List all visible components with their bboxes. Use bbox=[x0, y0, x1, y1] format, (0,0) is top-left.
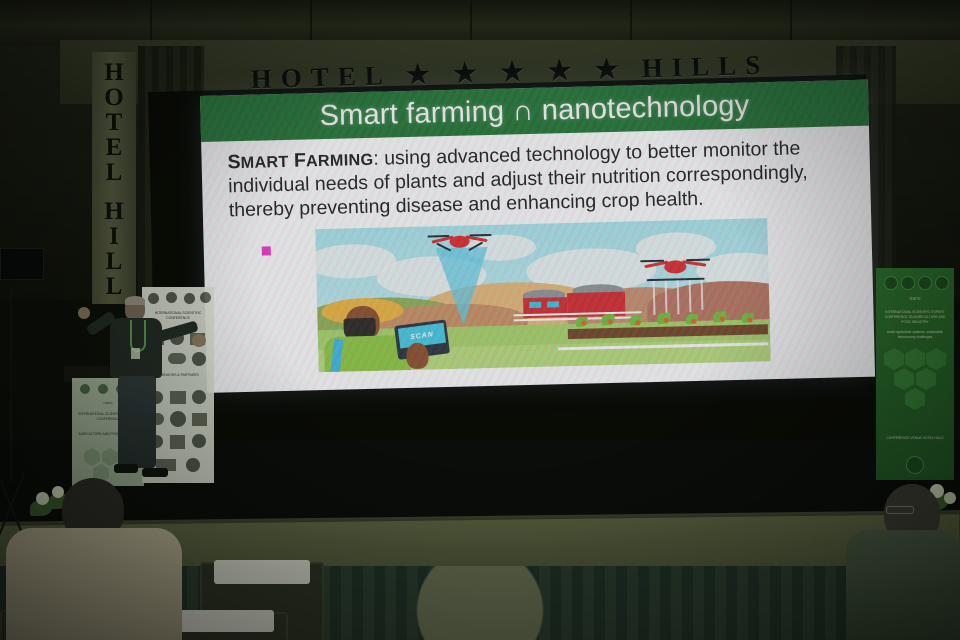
spraying-drone bbox=[315, 218, 767, 229]
slide-title: Smart farming ∩ nanotechnology bbox=[319, 89, 750, 132]
tablet-scan-label: SCAN bbox=[410, 331, 435, 341]
farmer-with-tablet: SCAN bbox=[315, 218, 767, 229]
smart-farming-illustration: SCAN bbox=[315, 218, 770, 372]
chair-cover bbox=[180, 610, 274, 632]
slide-body: SMART FARMING: using advanced technology… bbox=[201, 126, 871, 224]
slide-paragraph: SMART FARMING: using advanced technology… bbox=[227, 136, 849, 222]
conference-banner: nano INTERNATIONAL SCIENTIFIC EXPERT CON… bbox=[876, 268, 954, 480]
stage-monitor bbox=[0, 248, 44, 280]
vertical-hotel-sign: HOTELHILL bbox=[92, 52, 136, 304]
conference-photo-scene: HOTEL ★ ★ ★ ★ ★ HILLS HOTELHILL Smart fa… bbox=[0, 0, 960, 640]
smart-farming-term: SMART FARMING bbox=[227, 148, 373, 174]
crop-rows bbox=[315, 218, 767, 229]
glasses-icon bbox=[886, 506, 914, 514]
presentation-slide: Smart farming ∩ nanotechnology SMART FAR… bbox=[200, 80, 875, 393]
scan-beam bbox=[436, 247, 490, 326]
barn bbox=[315, 218, 767, 229]
slide-bullet-marker bbox=[262, 246, 271, 255]
chair-cover bbox=[214, 560, 310, 584]
scanning-drone bbox=[315, 218, 767, 229]
tripod-stand bbox=[10, 286, 12, 482]
